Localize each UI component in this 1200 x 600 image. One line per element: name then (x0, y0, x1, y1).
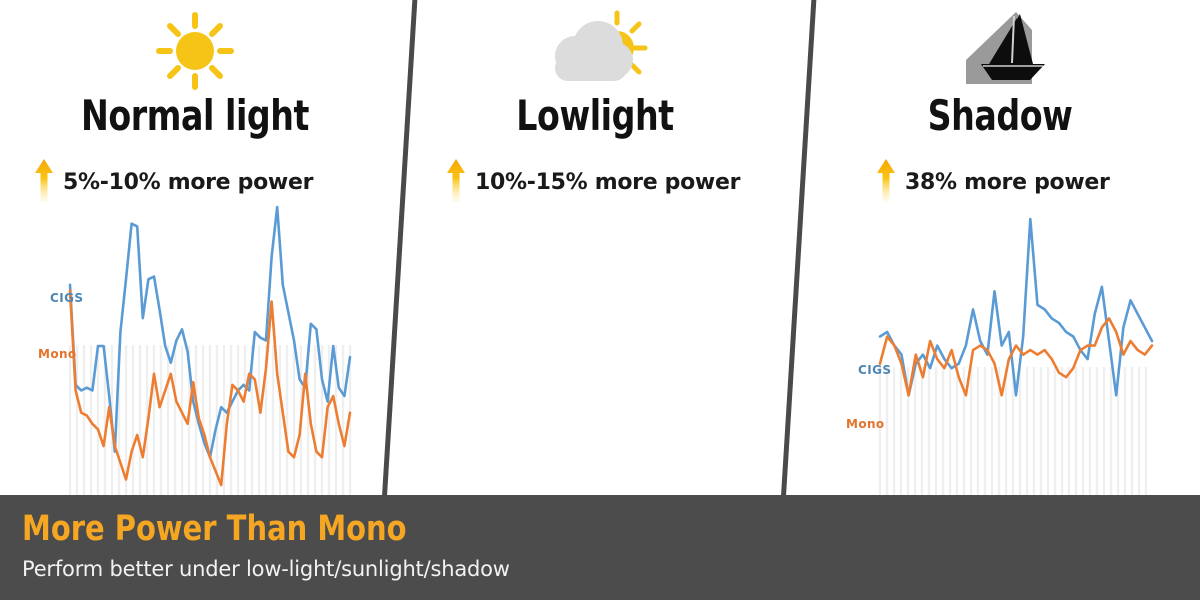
sun-icon (151, 8, 239, 99)
panel-title: Normal light (23, 95, 366, 137)
power-text: 5%-10% more power (63, 170, 313, 195)
panel-shadow: Shadow 38% more power (800, 0, 1200, 520)
sailboat-shadow-icon (948, 8, 1052, 99)
panel-title: Shadow (824, 95, 1176, 137)
power-callout: 38% more power (876, 158, 1110, 207)
infographic-root: Normal light 5%-10% more power (0, 0, 1200, 600)
panel-icon-container (0, 8, 390, 94)
banner-title: More Power Than Mono (22, 509, 407, 549)
up-arrow-icon (446, 158, 466, 207)
chart-normal-light: CIGS Mono (28, 195, 358, 500)
power-text: 38% more power (905, 170, 1110, 195)
legend-label-mono: Mono (38, 347, 77, 361)
power-callout: 10%-15% more power (446, 158, 740, 207)
panel-lowlight: Lowlight 10%-15% more power (400, 0, 790, 520)
panel-icon-container (400, 8, 790, 94)
banner-subtitle: Perform better under low-light/sunlight/… (22, 557, 510, 581)
panel-icon-container (800, 8, 1200, 94)
legend-label-cigs: CIGS (50, 291, 83, 305)
up-arrow-icon (876, 158, 896, 207)
panel-normal-light: Normal light 5%-10% more power (0, 0, 390, 520)
sun-behind-cloud-icon (541, 8, 649, 99)
bottom-banner: More Power Than Mono Perform better unde… (0, 495, 1200, 600)
panel-title: Lowlight (423, 95, 766, 137)
power-text: 10%-15% more power (475, 170, 740, 195)
